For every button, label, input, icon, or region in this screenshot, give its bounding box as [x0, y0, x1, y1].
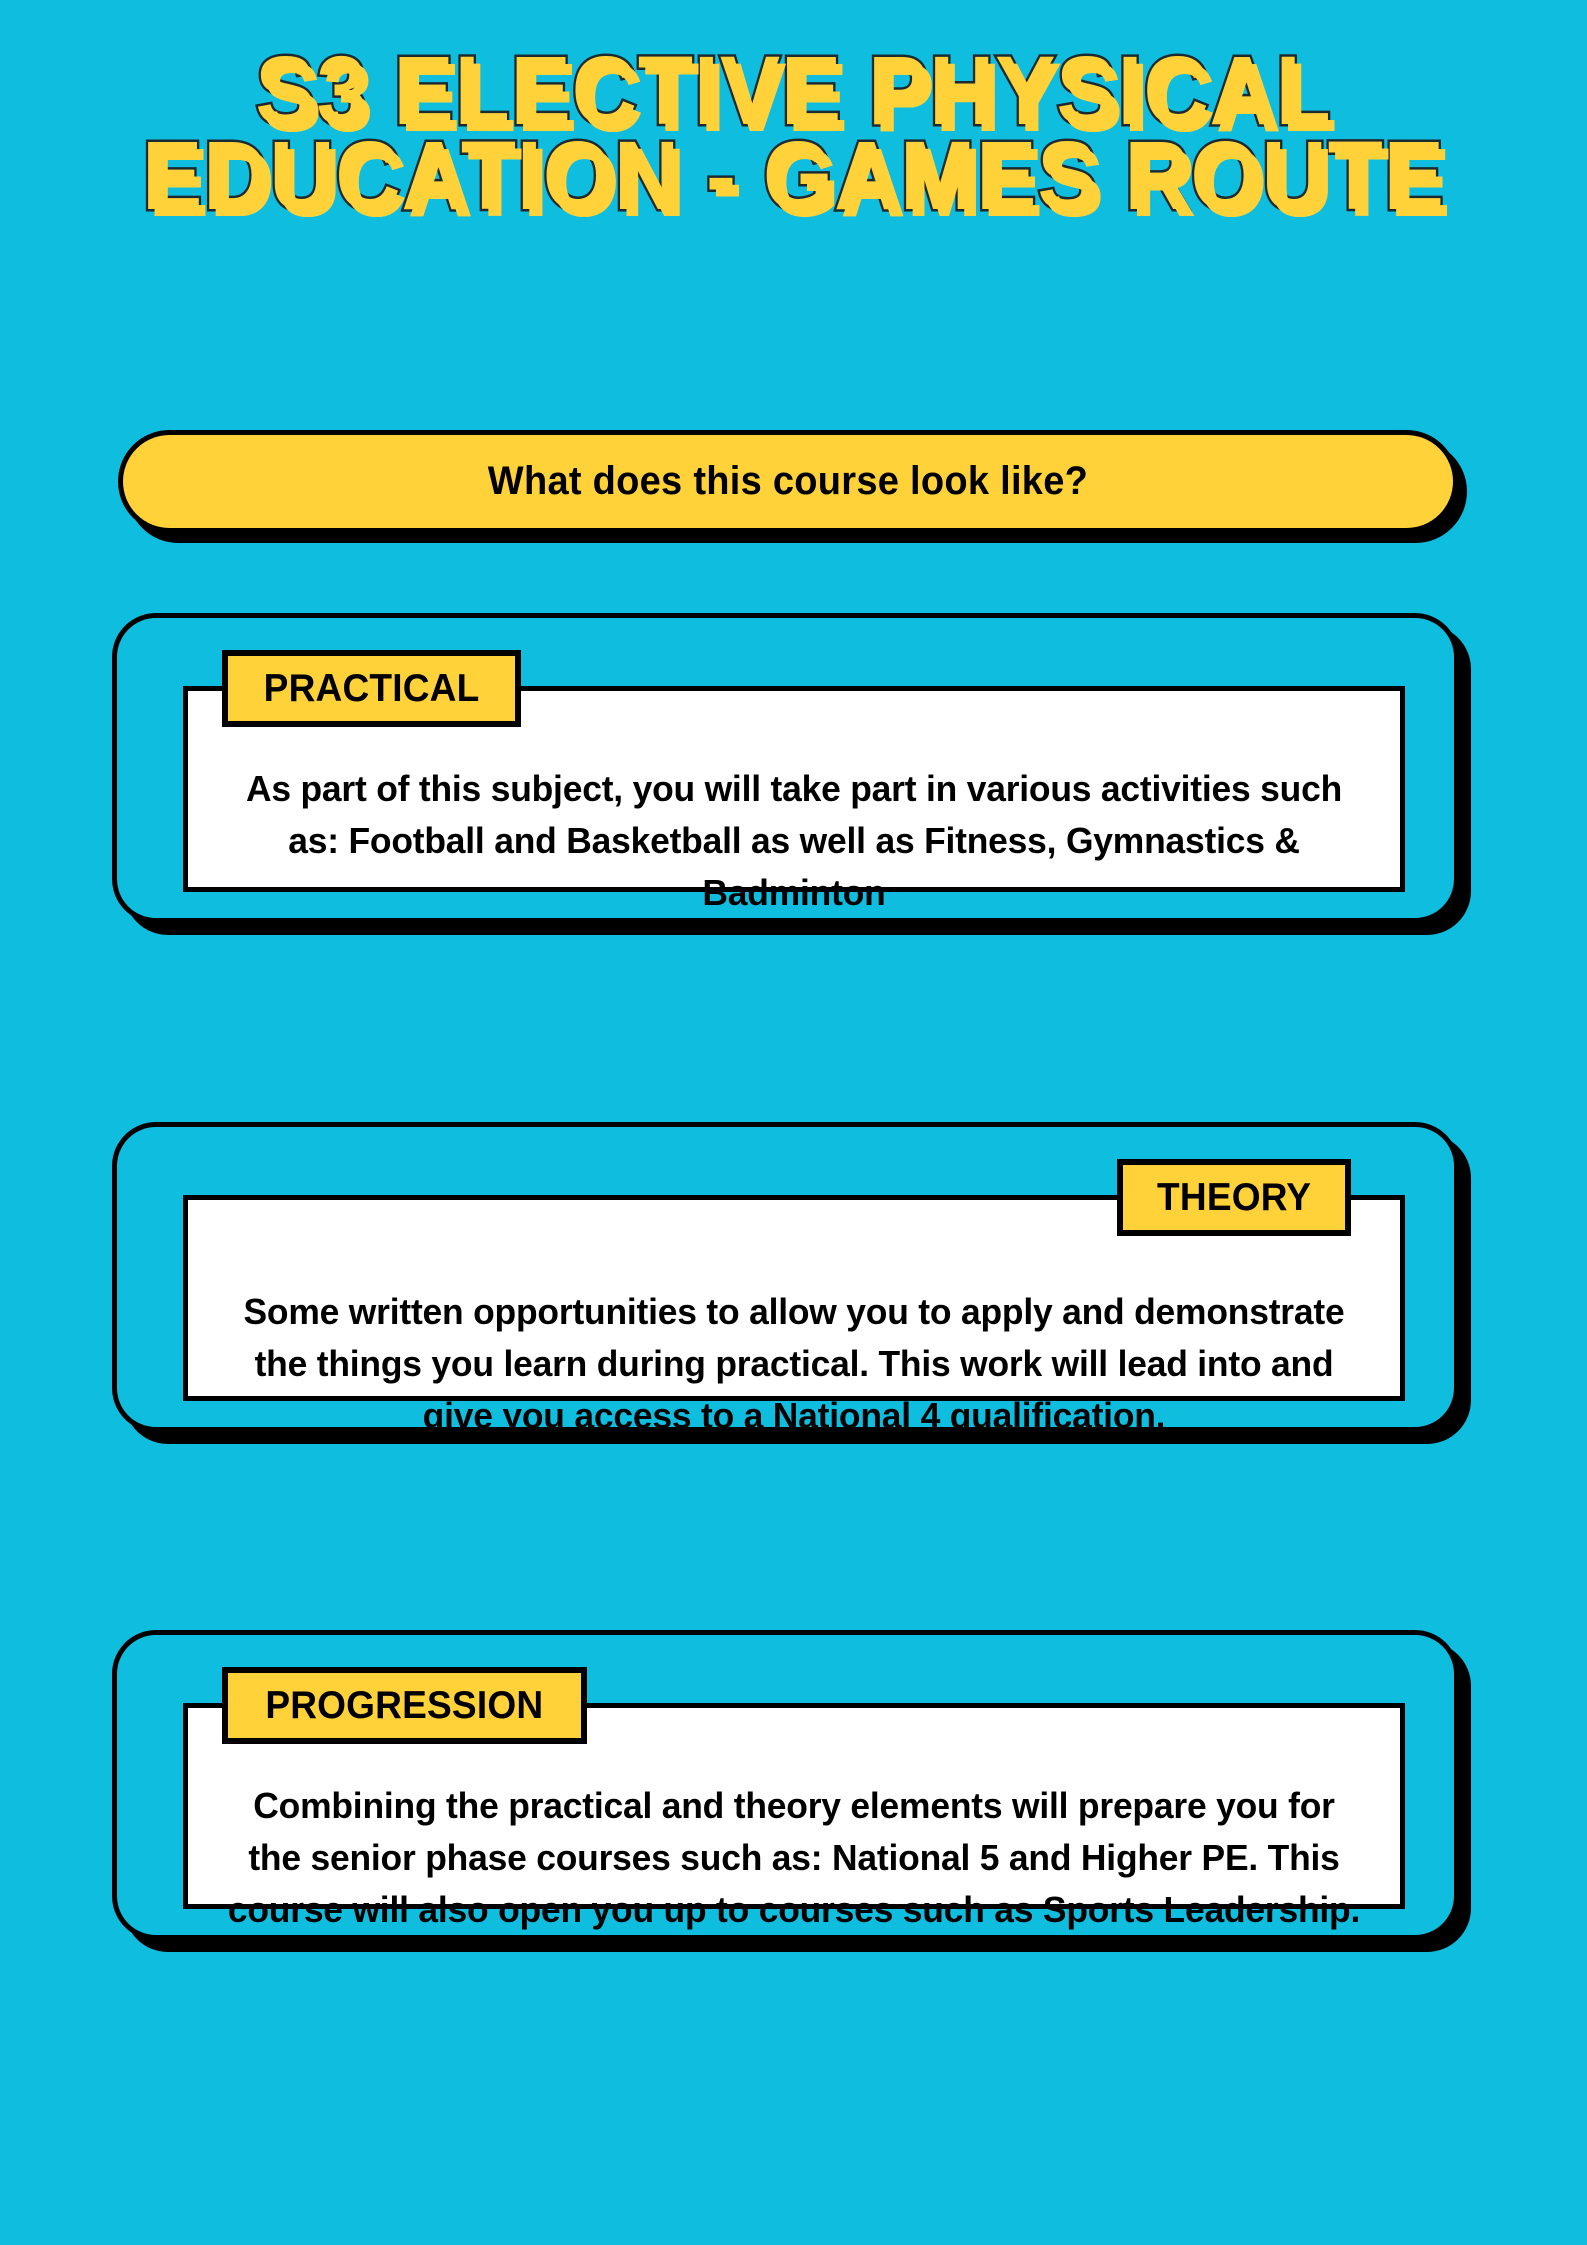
banner-label: What does this course look like? — [488, 459, 1088, 504]
card-surface: Some written opportunities to allow you … — [112, 1122, 1459, 1432]
card-body-text: Some written opportunities to allow you … — [228, 1286, 1361, 1441]
card-tag-progression: PROGRESSION — [222, 1667, 587, 1744]
card-body-text: As part of this subject, you will take p… — [228, 763, 1361, 918]
page-title-container: S3 Elective Physical Education - Games R… — [0, 48, 1587, 219]
banner-surface: What does this course look like? — [118, 430, 1458, 533]
section-card-progression: Combining the practical and theory eleme… — [112, 1630, 1459, 1940]
section-card-practical: As part of this subject, you will take p… — [112, 613, 1459, 923]
card-tag-label: PROGRESSION — [265, 1684, 543, 1728]
card-surface: Combining the practical and theory eleme… — [112, 1630, 1459, 1940]
card-tag-label: PRACTICAL — [264, 667, 480, 711]
card-tag-label: THEORY — [1157, 1176, 1311, 1220]
section-card-theory: Some written opportunities to allow you … — [112, 1122, 1459, 1432]
card-surface: As part of this subject, you will take p… — [112, 613, 1459, 923]
card-tag-theory: THEORY — [1117, 1159, 1351, 1236]
card-tag-practical: PRACTICAL — [222, 650, 521, 727]
page-title: S3 Elective Physical Education - Games R… — [56, 48, 1532, 219]
course-question-banner: What does this course look like? — [118, 430, 1458, 533]
card-body-text: Combining the practical and theory eleme… — [228, 1780, 1361, 1935]
